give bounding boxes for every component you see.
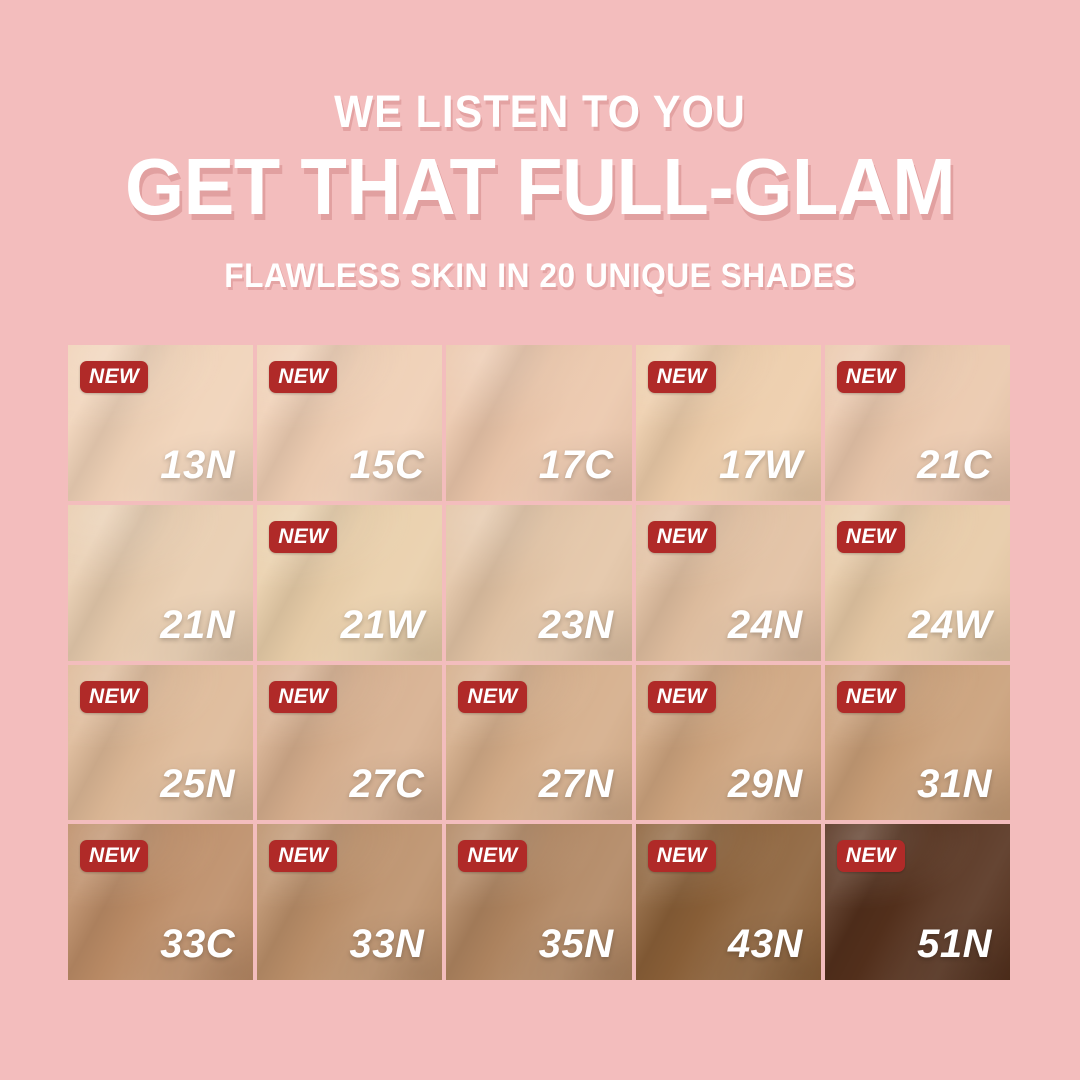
- shade-swatch-29n[interactable]: NEW29N: [636, 665, 821, 821]
- new-badge: NEW: [80, 681, 148, 713]
- shade-swatch-27n[interactable]: NEW27N: [446, 665, 631, 821]
- shade-code-label: 35N: [539, 922, 614, 966]
- shade-code-label: 29N: [728, 762, 803, 806]
- shade-code-label: 21C: [917, 443, 992, 487]
- new-badge: NEW: [837, 840, 905, 872]
- shade-code-label: 27N: [539, 762, 614, 806]
- new-badge: NEW: [648, 681, 716, 713]
- shade-swatch-13n[interactable]: NEW13N: [68, 345, 253, 501]
- shade-swatch-17c[interactable]: NEW17C: [446, 345, 631, 501]
- shade-swatch-33c[interactable]: NEW33C: [68, 824, 253, 980]
- shade-swatch-21n[interactable]: NEW21N: [68, 505, 253, 661]
- shade-code-label: 23N: [539, 603, 614, 647]
- new-badge: NEW: [269, 361, 337, 393]
- new-badge: NEW: [80, 361, 148, 393]
- shade-swatch-15c[interactable]: NEW15C: [257, 345, 442, 501]
- new-badge: NEW: [837, 521, 905, 553]
- new-badge: NEW: [458, 840, 526, 872]
- new-badge: NEW: [648, 840, 716, 872]
- shade-swatch-17w[interactable]: NEW17W: [636, 345, 821, 501]
- headline-text: GET THAT FULL-GLAM: [27, 144, 1053, 230]
- shade-swatch-25n[interactable]: NEW25N: [68, 665, 253, 821]
- shade-swatch-43n[interactable]: NEW43N: [636, 824, 821, 980]
- shade-code-label: 24N: [728, 603, 803, 647]
- shade-code-label: 15C: [350, 443, 425, 487]
- shade-code-label: 24W: [908, 603, 992, 647]
- shade-code-label: 13N: [160, 443, 235, 487]
- shade-swatch-21c[interactable]: NEW21C: [825, 345, 1010, 501]
- shade-code-label: 31N: [917, 762, 992, 806]
- headings-block: WE LISTEN TO YOU GET THAT FULL-GLAM FLAW…: [0, 0, 1080, 296]
- shade-code-label: 33C: [160, 922, 235, 966]
- shade-swatch-21w[interactable]: NEW21W: [257, 505, 442, 661]
- new-badge: NEW: [837, 681, 905, 713]
- new-badge: NEW: [269, 840, 337, 872]
- shade-code-label: 33N: [350, 922, 425, 966]
- shade-code-label: 17C: [539, 443, 614, 487]
- shade-code-label: 25N: [160, 762, 235, 806]
- new-badge: NEW: [269, 681, 337, 713]
- new-badge: NEW: [648, 361, 716, 393]
- shade-swatch-24w[interactable]: NEW24W: [825, 505, 1010, 661]
- shade-code-label: 21W: [341, 603, 425, 647]
- shade-code-label: 17W: [719, 443, 803, 487]
- shade-swatch-27c[interactable]: NEW27C: [257, 665, 442, 821]
- eyebrow-text: WE LISTEN TO YOU: [43, 86, 1037, 138]
- new-badge: NEW: [837, 361, 905, 393]
- new-badge: NEW: [269, 521, 337, 553]
- new-badge: NEW: [458, 681, 526, 713]
- shade-code-label: 21N: [160, 603, 235, 647]
- shade-swatch-51n[interactable]: NEW51N: [825, 824, 1010, 980]
- shade-swatch-23n[interactable]: NEW23N: [446, 505, 631, 661]
- shade-swatch-24n[interactable]: NEW24N: [636, 505, 821, 661]
- shade-grid: NEW13NNEW15CNEW17CNEW17WNEW21CNEW21NNEW2…: [68, 345, 1010, 980]
- shade-code-label: 43N: [728, 922, 803, 966]
- shade-code-label: 51N: [917, 922, 992, 966]
- shade-swatch-35n[interactable]: NEW35N: [446, 824, 631, 980]
- shade-swatch-33n[interactable]: NEW33N: [257, 824, 442, 980]
- shade-code-label: 27C: [350, 762, 425, 806]
- shade-swatch-31n[interactable]: NEW31N: [825, 665, 1010, 821]
- new-badge: NEW: [80, 840, 148, 872]
- new-badge: NEW: [648, 521, 716, 553]
- subhead-text: FLAWLESS SKIN IN 20 UNIQUE SHADES: [38, 256, 1042, 296]
